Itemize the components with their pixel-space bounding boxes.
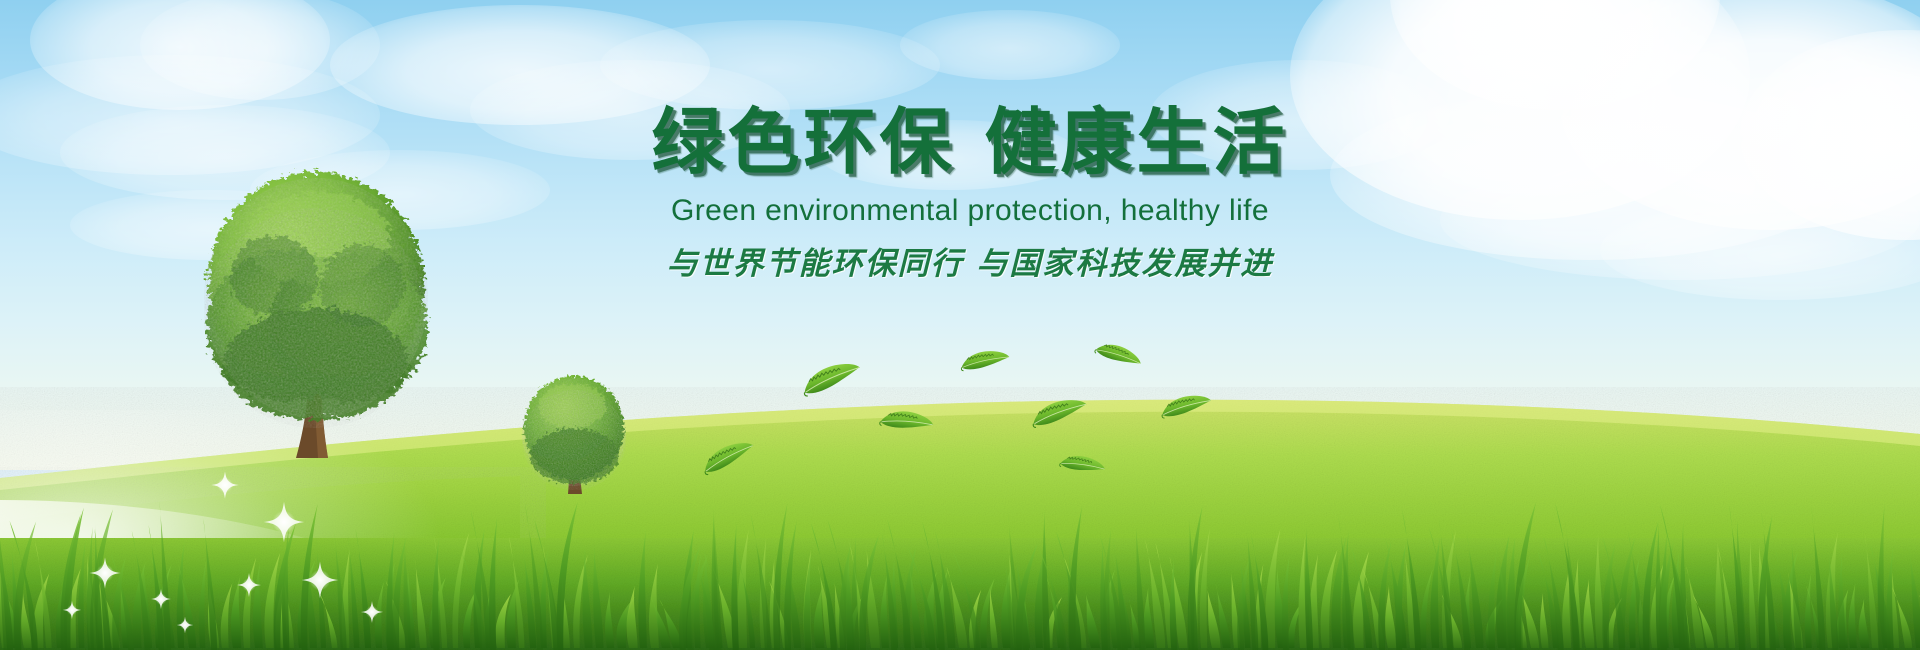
banner-tagline-calligraphy: 与世界节能环保同行 与国家科技发展并进 [620,238,1320,283]
banner-subtitle-english: Green environmental protection, healthy … [620,194,1320,228]
banner-text-block: 绿色环保 健康生活 Green environmental protection… [620,105,1320,283]
large-tree [196,158,436,464]
foreground-grass-strip [0,480,1920,650]
hero-banner: 绿色环保 健康生活 Green environmental protection… [0,0,1920,650]
banner-headline: 绿色环保 健康生活 [620,105,1320,180]
small-tree [516,372,634,494]
